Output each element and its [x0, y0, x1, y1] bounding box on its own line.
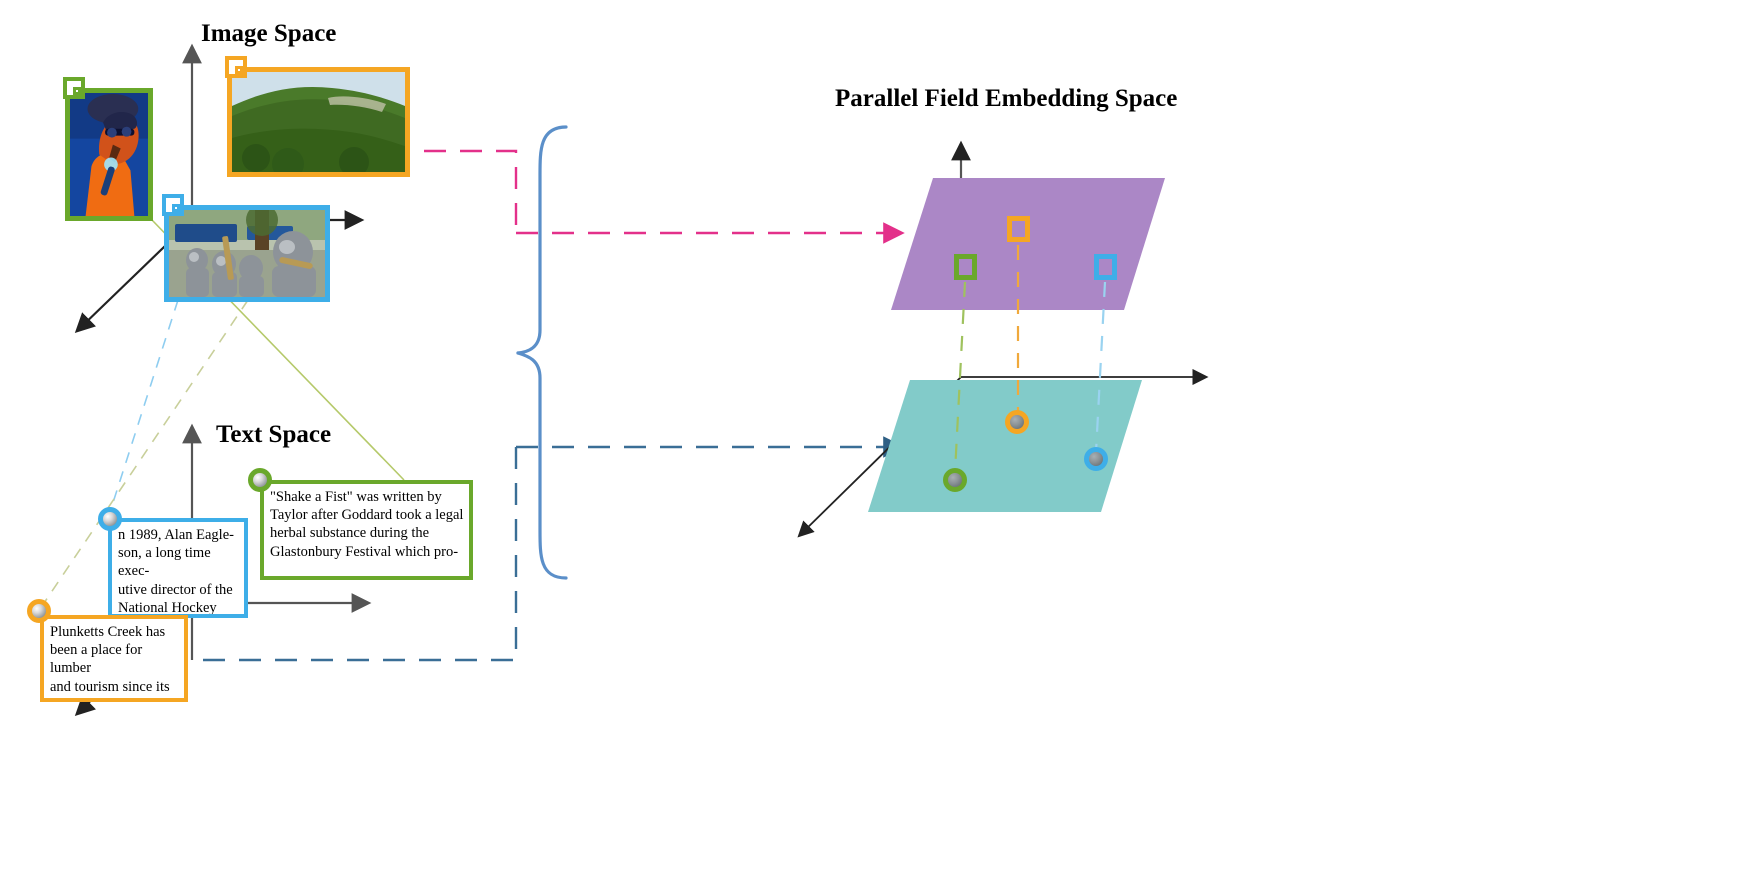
text-line: son, a long time exec-	[118, 544, 239, 580]
embedding-space-axes	[800, 145, 1205, 535]
text-line: utive director of the	[118, 581, 239, 599]
text-line: n 1989, Alan Eagle-	[118, 526, 239, 544]
text-line: Glastonbury Festival which pro-	[270, 543, 464, 561]
text-line: villages were founded.	[50, 696, 179, 702]
image-sculptures-photo	[169, 210, 325, 297]
text-embedding-plane	[868, 380, 1142, 512]
text-snippet-alan-eagleson[interactable]: n 1989, Alan Eagle- son, a long time exe…	[108, 518, 248, 618]
marker-image-green[interactable]	[954, 254, 977, 280]
text-line: and tourism since its	[50, 678, 179, 696]
marker-text-orange[interactable]	[1005, 410, 1029, 434]
arrow-image-to-embedding	[424, 151, 900, 233]
embedding-space-title: Parallel Field Embedding Space	[835, 85, 1177, 113]
text-snippet-orange-handle[interactable]	[27, 599, 51, 623]
text-snippet-blue-handle[interactable]	[98, 507, 122, 531]
text-line: Taylor after Goddard took a legal	[270, 506, 464, 524]
marker-image-orange[interactable]	[1007, 216, 1030, 242]
marker-text-blue[interactable]	[1084, 447, 1108, 471]
image-singer-photo	[70, 93, 148, 216]
image-thumbnail-singer[interactable]	[65, 88, 153, 221]
image-thumbnail-sculptures[interactable]	[164, 205, 330, 302]
text-line: herbal substance during the	[270, 524, 464, 542]
text-snippet-shake-a-fist[interactable]: "Shake a Fist" was written by Taylor aft…	[260, 480, 473, 580]
plane-correspondence-lines	[955, 245, 1105, 472]
text-snippet-green-handle[interactable]	[248, 468, 272, 492]
text-line: been a place for lumber	[50, 641, 179, 677]
marker-text-green[interactable]	[943, 468, 967, 492]
text-line: "Shake a Fist" was written by	[270, 488, 464, 506]
marker-image-blue[interactable]	[1094, 254, 1117, 280]
green-square-tag	[63, 77, 85, 99]
blue-square-tag	[162, 194, 184, 216]
text-line: Plunketts Creek has	[50, 623, 179, 641]
image-space-title: Image Space	[201, 20, 336, 48]
image-embedding-plane	[891, 178, 1165, 310]
text-snippet-plunketts-creek[interactable]: Plunketts Creek has been a place for lum…	[40, 615, 188, 702]
orange-square-tag	[225, 56, 247, 78]
image-thumbnail-hillside[interactable]	[227, 67, 410, 177]
figure-canvas: Image Space Text Space Parallel Field Em…	[0, 0, 1749, 877]
grouping-brace	[518, 127, 566, 578]
image-hillside-photo	[232, 72, 405, 172]
text-space-title: Text Space	[216, 421, 331, 449]
